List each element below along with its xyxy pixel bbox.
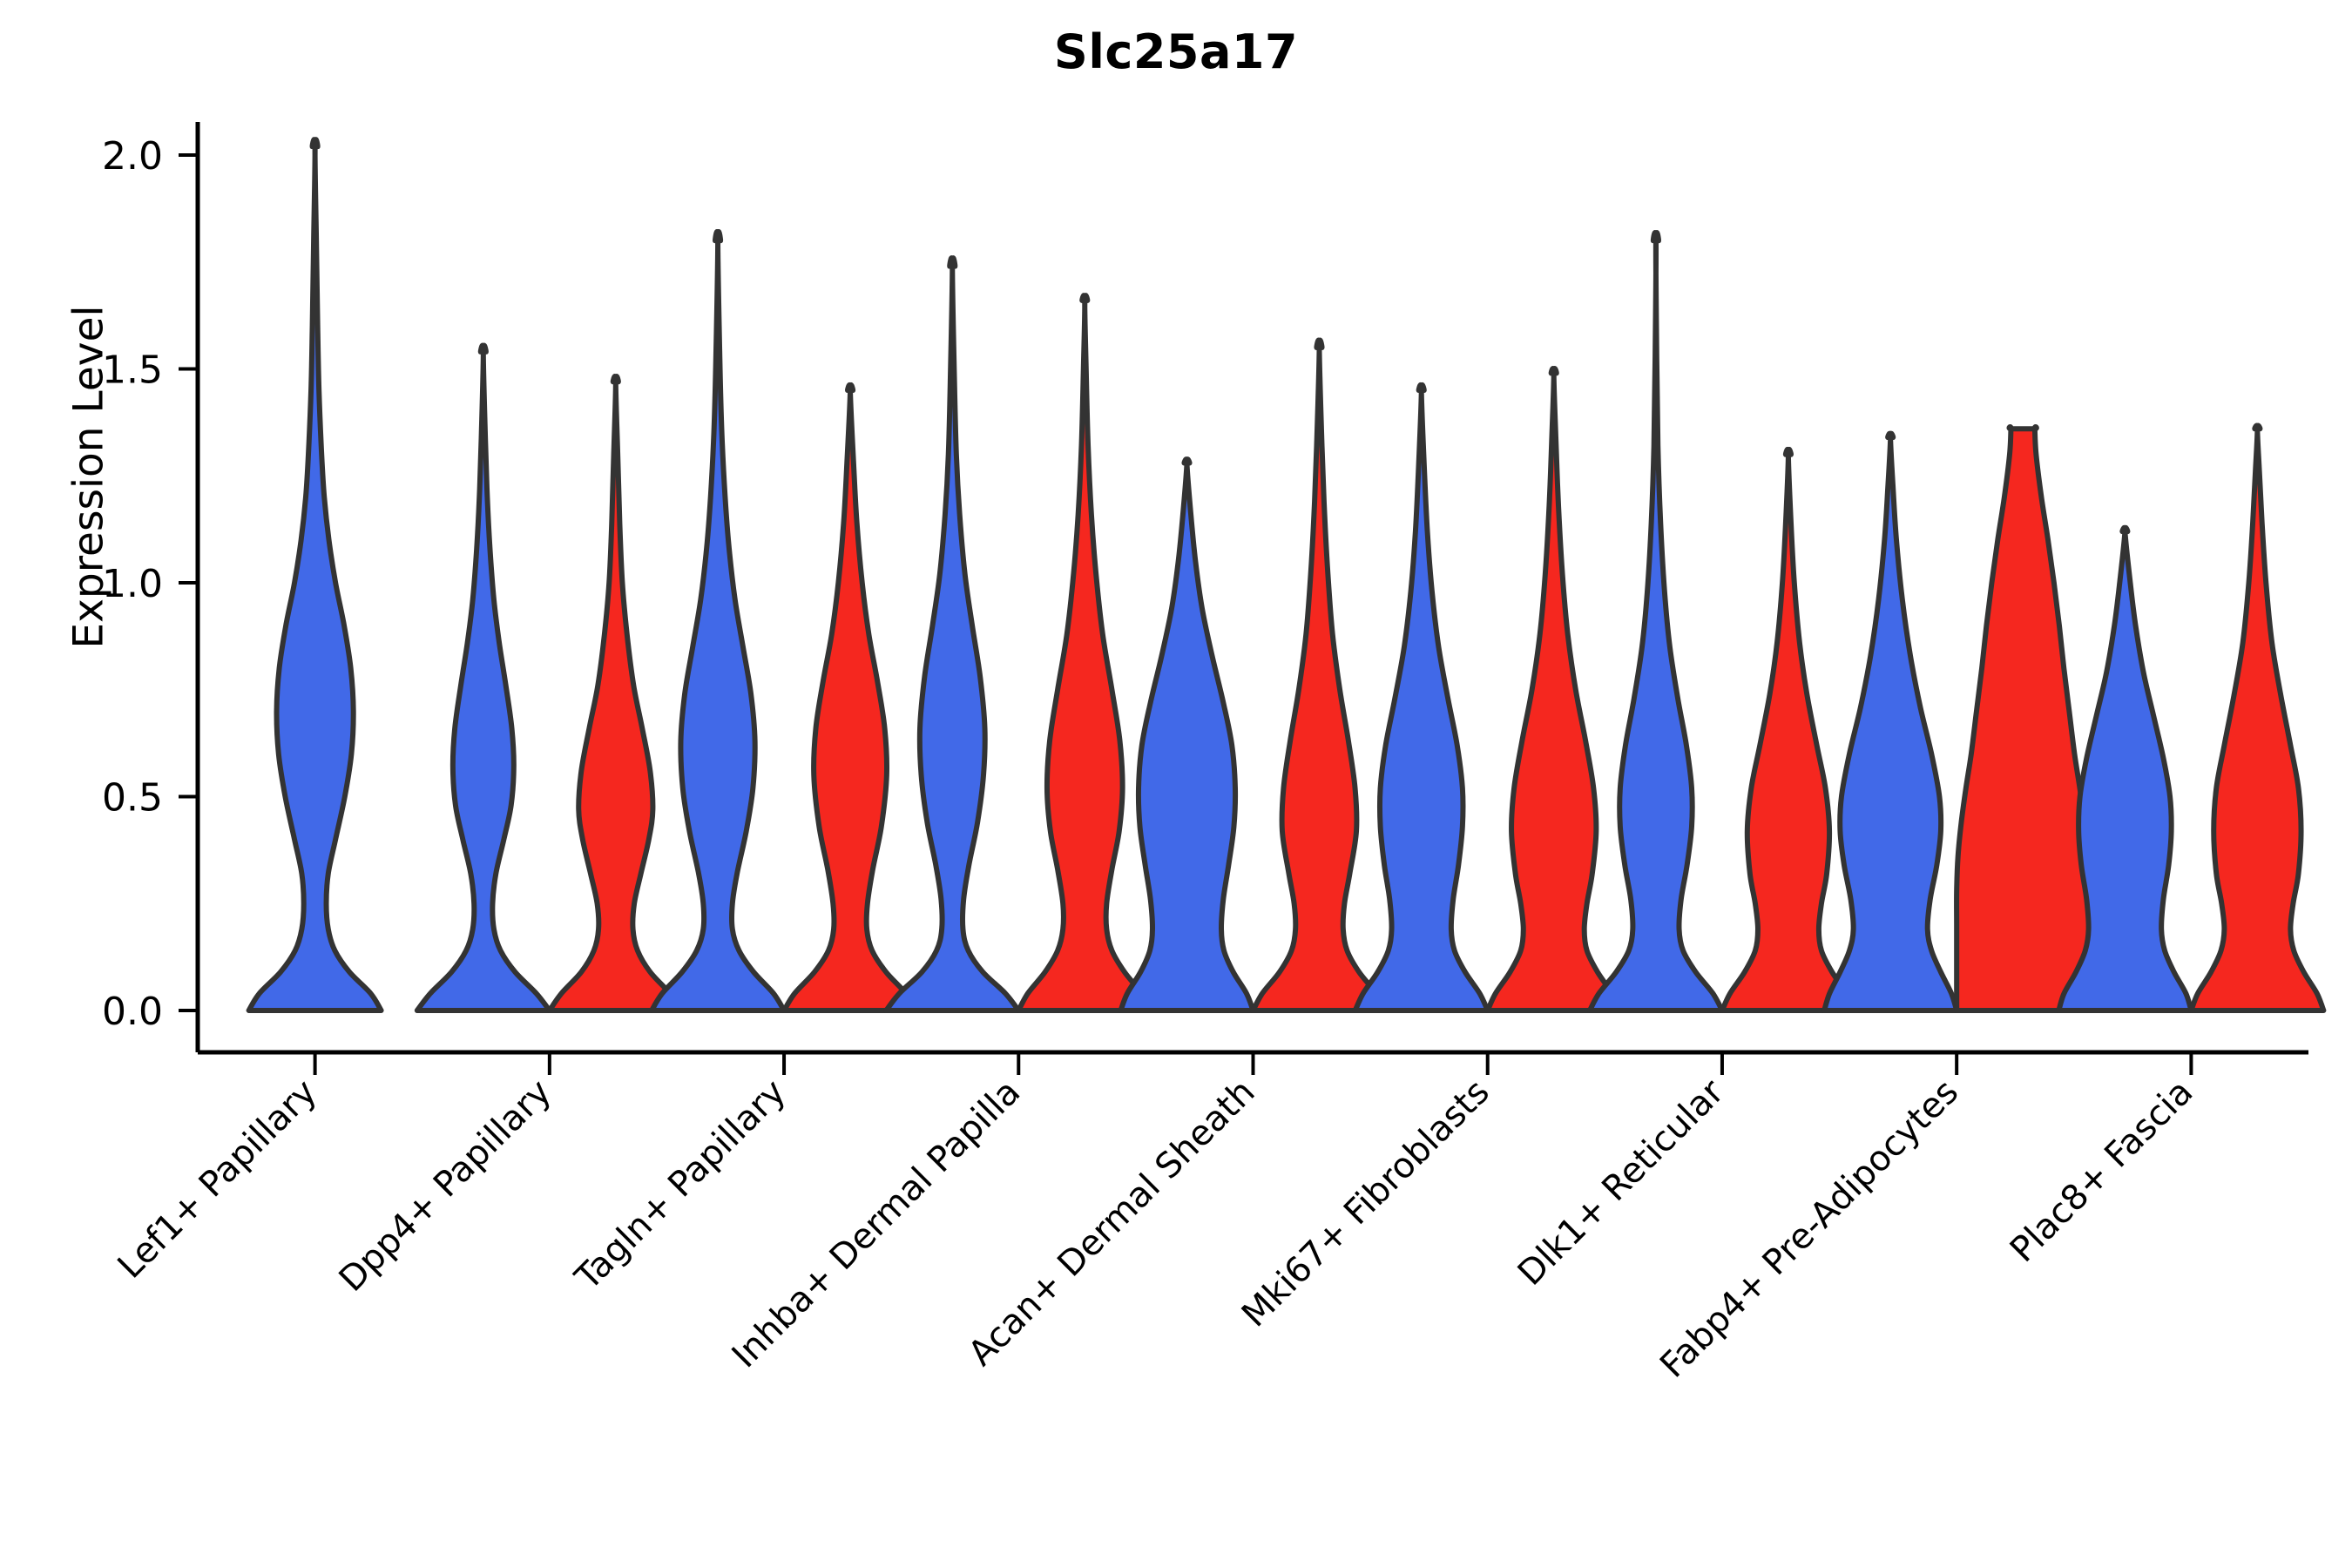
x-tick-label: Plac8+ Fascia [2003,1072,2201,1271]
x-tick-label: Dlk1+ Reticular [1511,1071,1733,1294]
violins-layer [249,139,2324,1010]
violin-group-blue[interactable] [1590,233,1722,1010]
violin-group-blue[interactable] [417,346,550,1010]
x-axis-ticks: Lef1+ PapillaryDpp4+ PapillaryTagln+ Pap… [110,1052,2200,1386]
y-axis-ticks: 0.00.51.01.52.0 [102,134,198,1034]
violin-group-red[interactable] [1254,341,1386,1010]
y-tick-label: 1.0 [102,562,163,606]
x-tick-label: Tagln+ Papillary [567,1072,794,1299]
violin-group-red[interactable] [550,376,682,1010]
x-tick-label: Dpp4+ Papillary [332,1072,559,1300]
violin-group-red[interactable] [1957,427,2089,1010]
y-tick-label: 1.5 [102,348,163,393]
violin-group-red[interactable] [1488,368,1620,1010]
y-tick-label: 0.5 [102,776,163,821]
violin-group-red[interactable] [1722,449,1855,1010]
chart-canvas: 0.00.51.01.52.0 Lef1+ PapillaryDpp4+ Pap… [0,0,2352,1568]
violin-group-blue[interactable] [1824,434,1957,1010]
violin-group-blue[interactable] [652,232,784,1010]
x-tick-label: Mki67+ Fibroblasts [1234,1072,1497,1335]
violin-group-blue[interactable] [1355,385,1488,1010]
violin-group-red[interactable] [1018,295,1151,1010]
violin-group-red[interactable] [784,385,916,1010]
y-tick-label: 2.0 [102,134,163,179]
violin-group-blue[interactable] [1121,459,1254,1010]
y-tick-label: 0.0 [102,990,163,1034]
violin-group-red[interactable] [2191,426,2323,1010]
violin-plot-figure: Slc25a17 Expression Level 0.00.51.01.52.… [0,0,2352,1568]
x-tick-label: Lef1+ Papillary [110,1072,324,1287]
violin-group-blue[interactable] [249,139,382,1010]
violin-group-blue[interactable] [886,258,1018,1010]
